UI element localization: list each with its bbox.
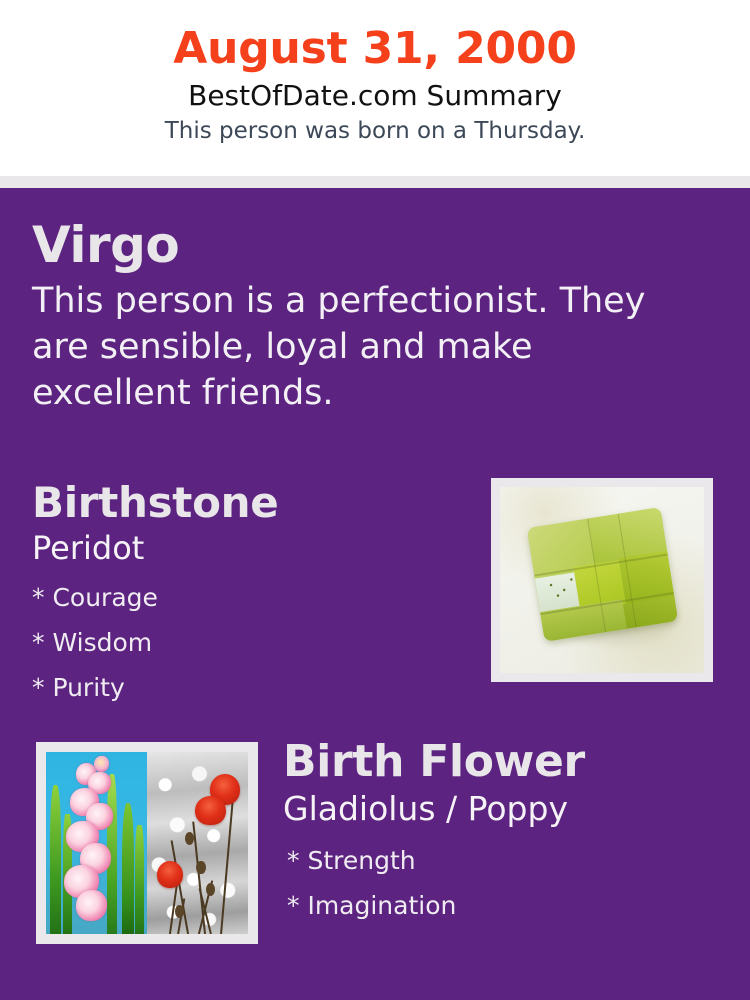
birth-flower-heading: Birth Flower xyxy=(283,736,733,788)
page-title-date: August 31, 2000 xyxy=(0,22,750,76)
birth-flower-image-frame xyxy=(36,742,258,944)
poppy-bud xyxy=(185,832,194,845)
gladiolus-leaf xyxy=(122,803,134,934)
list-item: * Strength xyxy=(287,838,733,883)
card-header: August 31, 2000 BestOfDate.com Summary T… xyxy=(0,0,750,176)
details-panel: Virgo This person is a perfectionist. Th… xyxy=(0,188,750,1000)
poppy-bloom xyxy=(157,861,183,888)
zodiac-section: Virgo This person is a perfectionist. Th… xyxy=(32,216,692,416)
summary-card: August 31, 2000 BestOfDate.com Summary T… xyxy=(0,0,750,1000)
birth-flower-name: Gladiolus / Poppy xyxy=(283,787,733,830)
site-name: BestOfDate.com Summary xyxy=(0,78,750,114)
birthstone-section: Birthstone Peridot * Courage * Wisdom * … xyxy=(32,478,462,710)
peridot-gemstone-image xyxy=(500,487,704,673)
zodiac-description: This person is a perfectionist. They are… xyxy=(32,278,652,416)
poppy-bud xyxy=(196,861,205,874)
birth-flower-section: Birth Flower Gladiolus / Poppy * Strengt… xyxy=(283,736,733,928)
zodiac-sign-heading: Virgo xyxy=(32,216,692,274)
peridot-crystal xyxy=(526,507,677,642)
gladiolus-photo-half xyxy=(46,752,147,934)
gladiolus-bloom xyxy=(76,890,106,921)
gladiolus-bloom xyxy=(94,756,108,772)
list-item: * Wisdom xyxy=(32,620,462,665)
birthstone-trait-list: * Courage * Wisdom * Purity xyxy=(32,575,462,710)
gladiolus-leaf xyxy=(50,785,61,934)
header-divider xyxy=(0,176,750,188)
poppy-bud xyxy=(206,883,215,896)
list-item: * Imagination xyxy=(287,883,733,928)
birthstone-image-frame xyxy=(491,478,713,682)
poppy-bloom xyxy=(195,796,225,825)
list-item: * Purity xyxy=(32,665,462,710)
list-item: * Courage xyxy=(32,575,462,620)
poppy-bud xyxy=(175,905,184,918)
gladiolus-and-poppy-image xyxy=(46,752,248,934)
birthstone-heading: Birthstone xyxy=(32,478,462,528)
birth-flower-trait-list: * Strength * Imagination xyxy=(283,838,733,928)
birthstone-name: Peridot xyxy=(32,527,462,569)
poppy-photo-half xyxy=(147,752,248,934)
gladiolus-leaf xyxy=(135,825,144,934)
born-on-weekday-text: This person was born on a Thursday. xyxy=(0,115,750,147)
